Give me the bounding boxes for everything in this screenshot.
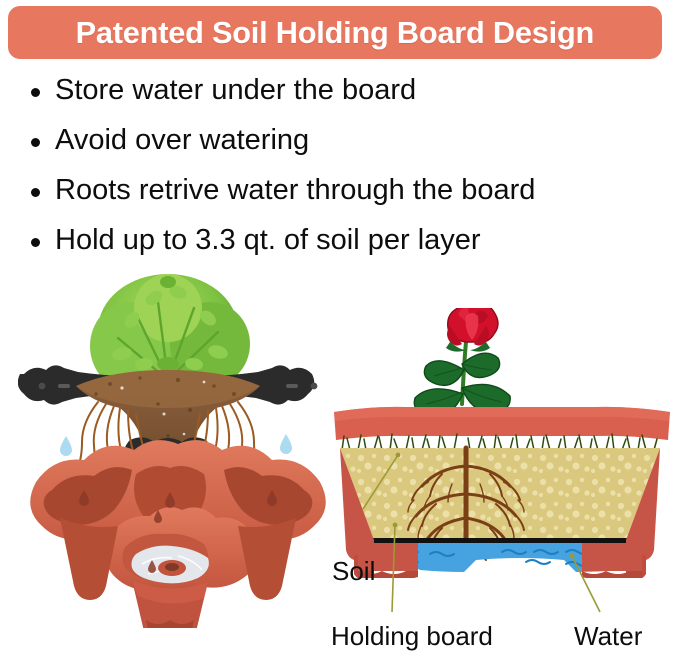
page-title: Patented Soil Holding Board Design <box>76 15 594 51</box>
pot-rim <box>334 407 670 440</box>
callout-label-holding-board: Holding board <box>331 621 493 652</box>
list-item: Store water under the board <box>22 68 662 118</box>
list-item: Roots retrive water through the board <box>22 168 662 218</box>
soil-layer <box>340 448 660 540</box>
artwork-area <box>0 268 679 655</box>
stacking-planter <box>30 440 326 628</box>
bullet-dot-icon <box>31 88 40 97</box>
rose-bloom <box>446 308 498 352</box>
bullet-dot-icon <box>31 188 40 197</box>
grass-line <box>342 434 657 450</box>
bullet-text: Avoid over watering <box>55 118 309 162</box>
bullet-dot-icon <box>31 238 40 247</box>
header-banner: Patented Soil Holding Board Design <box>8 6 662 59</box>
callout-label-soil: Soil <box>332 556 375 587</box>
rose-plant <box>414 308 510 417</box>
bullet-text: Roots retrive water through the board <box>55 168 535 212</box>
cross-section-diagram <box>330 308 670 578</box>
list-item: Avoid over watering <box>22 118 662 168</box>
bullet-text: Store water under the board <box>55 68 416 112</box>
callout-label-water: Water <box>574 621 642 652</box>
list-item: Hold up to 3.3 qt. of soil per layer <box>22 218 662 268</box>
product-photo-stacking-planter <box>18 268 338 628</box>
bullet-text: Hold up to 3.3 qt. of soil per layer <box>55 218 481 262</box>
bullet-dot-icon <box>31 138 40 147</box>
feature-bullet-list: Store water under the board Avoid over w… <box>22 68 662 268</box>
holding-board <box>370 538 630 543</box>
infographic-page: Patented Soil Holding Board Design Store… <box>0 0 679 655</box>
